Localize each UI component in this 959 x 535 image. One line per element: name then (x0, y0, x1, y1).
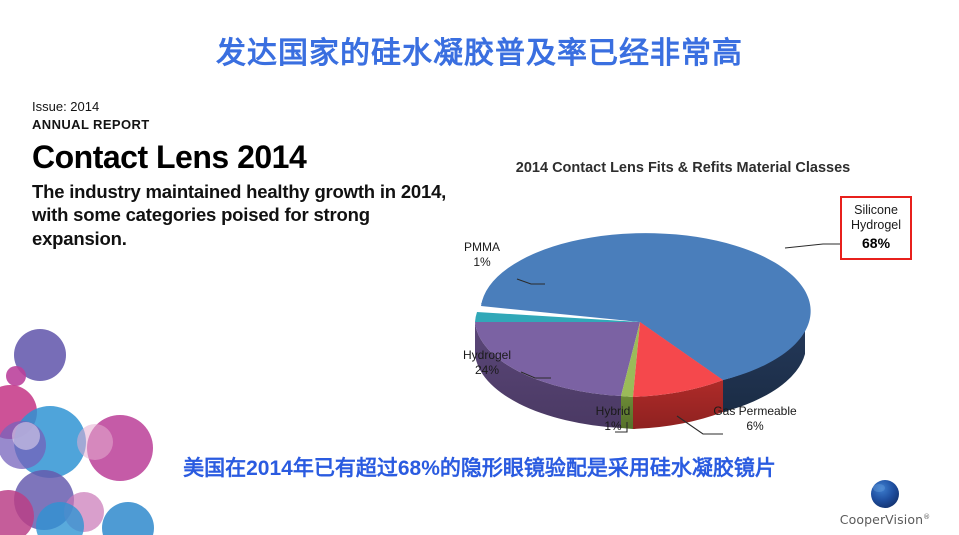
chart-title: 2014 Contact Lens Fits & Refits Material… (483, 160, 883, 176)
callout-line-2: Hydrogel (851, 218, 901, 233)
pie-label-pmma-value: 1% (447, 255, 517, 270)
report-title: Contact Lens 2014 (32, 140, 452, 175)
pie-label-gas-permeable-name: Gas Permeable (713, 404, 796, 418)
report-description: The industry maintained healthy growth i… (32, 180, 452, 251)
pie-label-hydrogel-name: Hydrogel (463, 348, 511, 362)
report-info-block: Issue: 2014 ANNUAL REPORT Contact Lens 2… (32, 98, 452, 251)
issue-line: Issue: 2014 (32, 98, 452, 116)
callout-percent: 68% (851, 235, 901, 252)
pie-label-pmma: PMMA 1% (447, 240, 517, 269)
pie-label-hydrogel: Hydrogel 24% (445, 348, 529, 377)
pie-label-hybrid: Hybrid 1% (580, 404, 646, 433)
silicone-hydrogel-callout: Silicone Hydrogel 68% (840, 196, 912, 260)
sphere-icon (867, 479, 903, 511)
pie-label-hybrid-value: 1% (580, 419, 646, 434)
annual-report-label: ANNUAL REPORT (32, 116, 452, 134)
logo-wordmark: CooperVision® (825, 512, 945, 527)
callout-line-1: Silicone (851, 203, 901, 218)
logo-trademark: ® (923, 513, 930, 521)
pie-label-hydrogel-value: 24% (445, 363, 529, 378)
pie-label-gas-permeable: Gas Permeable 6% (700, 404, 810, 433)
logo-name: CooperVision (840, 512, 923, 527)
leader-line-silicone-hydrogel (785, 244, 847, 248)
pie-chart-graphic (455, 176, 895, 436)
pie-label-pmma-name: PMMA (464, 240, 500, 254)
pie-chart-panel: 2014 Contact Lens Fits & Refits Material… (455, 152, 955, 452)
coopervision-logo: CooperVision® (825, 479, 945, 527)
pie-label-gas-permeable-value: 6% (700, 419, 810, 434)
bottom-caption: 美国在2014年已有超过68%的隐形眼镜验配是采用硅水凝胶镜片 (0, 452, 959, 482)
page-headline: 发达国家的硅水凝胶普及率已经非常高 (0, 28, 959, 72)
watercolor-bubbles-decoration (0, 320, 160, 535)
pie-label-hybrid-name: Hybrid (596, 404, 631, 418)
